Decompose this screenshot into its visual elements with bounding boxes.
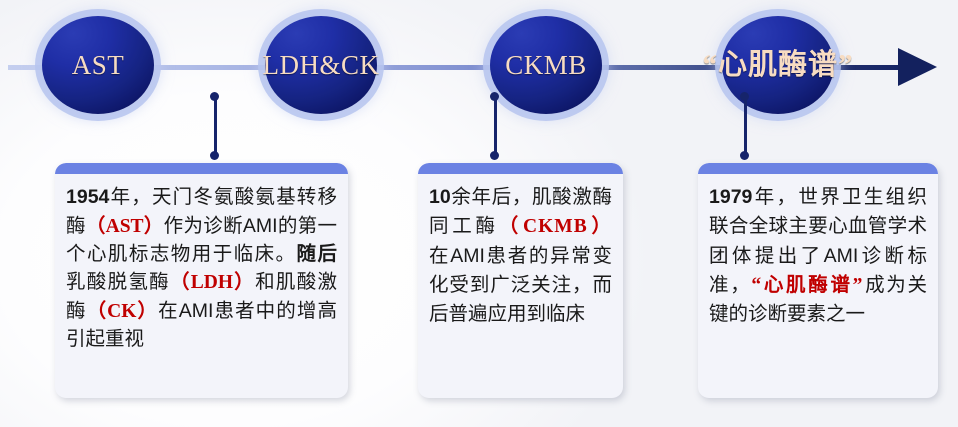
connector-line-1	[210, 92, 220, 160]
timeline-node-label: AST	[72, 52, 125, 79]
card-text: 10余年后，肌酸激酶同工酶（CKMB）在AMI患者的异常变化受到广泛关注，而后普…	[418, 174, 623, 337]
timeline-card-ckmb[interactable]: 10余年后，肌酸激酶同工酶（CKMB）在AMI患者的异常变化受到广泛关注，而后普…	[418, 163, 623, 398]
timeline-node-ldh-ck[interactable]: LDH&CK	[265, 16, 377, 114]
connector-line-3	[740, 92, 750, 160]
timeline-node-ckmb[interactable]: CKMB	[490, 16, 602, 114]
connector-dot-bottom	[210, 151, 219, 160]
card-text: 1954年，天门冬氨酸氨基转移酶（AST）作为诊断AMI的第一个心肌标志物用于临…	[55, 174, 348, 362]
timeline-node-cardiac-enzyme-panel[interactable]: “心肌酶谱”	[722, 16, 834, 114]
timeline-card-1954[interactable]: 1954年，天门冬氨酸氨基转移酶（AST）作为诊断AMI的第一个心肌标志物用于临…	[55, 163, 348, 398]
card-text: 1979年，世界卫生组织联合全球主要心血管学术团体提出了AMI诊断标准，“心肌酶…	[698, 174, 938, 337]
timeline-node-label: “心肌酶谱”	[703, 51, 854, 80]
connector-stem	[214, 96, 217, 156]
card-header-bar	[55, 163, 348, 174]
timeline-node-label: LDH&CK	[263, 52, 380, 79]
card-header-bar	[418, 163, 623, 174]
connector-line-2	[490, 92, 500, 160]
connector-stem	[744, 96, 747, 156]
timeline-diagram: AST LDH&CK CKMB “心肌酶谱” 1954年，天门冬氨酸氨基转移酶（…	[0, 0, 958, 427]
timeline-node-ast[interactable]: AST	[42, 16, 154, 114]
timeline-node-label: CKMB	[505, 52, 587, 79]
card-header-bar	[698, 163, 938, 174]
connector-dot-bottom	[490, 151, 499, 160]
connector-dot-bottom	[740, 151, 749, 160]
right-arrow-icon	[898, 48, 937, 86]
connector-stem	[494, 96, 497, 156]
timeline-card-1979[interactable]: 1979年，世界卫生组织联合全球主要心血管学术团体提出了AMI诊断标准，“心肌酶…	[698, 163, 938, 398]
